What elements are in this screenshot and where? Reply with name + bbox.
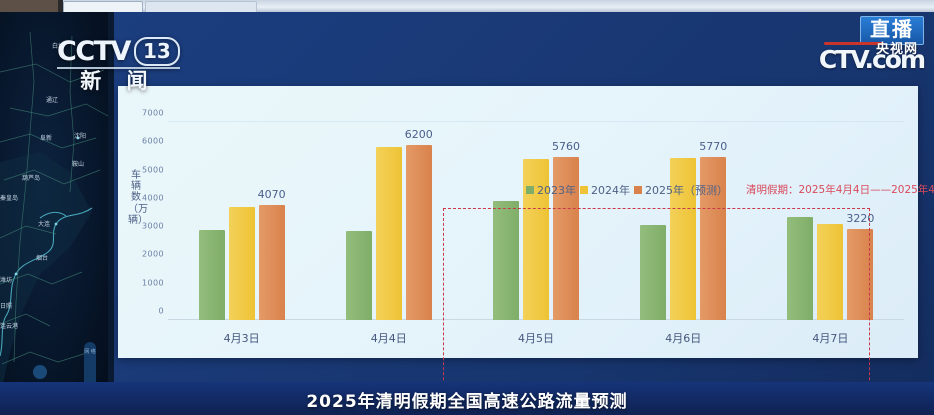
live-watermark-block: 直播 央视网 CTV.com (774, 16, 924, 75)
map-city-label: 潍坊 (0, 276, 12, 284)
map-city-label: 连云港 (0, 322, 18, 330)
bar-4月6日-2023年 (640, 225, 666, 320)
holiday-annotation: 清明假期：2025年4月4日——2025年4月6日 (746, 182, 934, 197)
chart-card: 2023年 2024年 2025年（预测） 清明假期：2025年4月4日——20… (118, 86, 918, 358)
legend-item-2023: 2023年 (526, 182, 576, 198)
bar-value-label: 3220 (846, 212, 874, 225)
bar-4月7日-2024年 (817, 224, 843, 320)
cctv-wordmark: CCTV (57, 38, 130, 65)
bar-4月3日-2025年（预测）: 4070 (259, 205, 285, 320)
map-city-label: 沈阳 (74, 132, 86, 140)
bar-4月3日-2024年 (229, 207, 255, 320)
map-scroll-label: 网 络 (84, 342, 96, 356)
legend-swatch-icon (634, 186, 642, 194)
x-axis-tick-label: 4月4日 (315, 330, 462, 346)
legend-swatch-icon (526, 186, 534, 194)
map-city-label: 阜新 (40, 134, 52, 142)
y-tick-label: 5000 (122, 165, 164, 174)
bar-value-label: 4070 (258, 188, 286, 201)
bar-group: 57704月6日 (610, 122, 757, 320)
map-city-label: 日照 (0, 303, 12, 310)
bar-4月3日-2023年 (199, 230, 225, 321)
website-wordmark: CTV.com (819, 47, 924, 72)
bar-value-label: 5760 (552, 140, 580, 153)
y-tick-label: 1000 (122, 278, 164, 287)
x-axis-tick-label: 4月6日 (610, 330, 757, 346)
legend-item-2025: 2025年（预测） (634, 182, 728, 198)
legend-swatch-icon (580, 186, 588, 194)
y-tick-label: 3000 (122, 222, 164, 231)
map-city-label: 葫芦岛 (22, 174, 40, 182)
y-tick-label: 7000 (122, 109, 164, 118)
plot-area: 7000 6000 5000 4000 3000 2000 1000 0 407… (168, 122, 904, 320)
channel-number-badge: 13 (134, 37, 180, 66)
y-tick-label: 6000 (122, 137, 164, 146)
logo-divider (57, 67, 180, 69)
bar-value-label: 5770 (699, 140, 727, 153)
legend-label: 2024年 (591, 182, 630, 198)
chrome-tab-second[interactable] (145, 1, 257, 12)
chart-legend: 2023年 2024年 2025年（预测） (526, 182, 728, 198)
bar-group: 57604月5日 (462, 122, 609, 320)
y-tick-label: 0 (122, 307, 164, 316)
bar-value-label: 6200 (405, 128, 433, 141)
bar-4月4日-2024年 (376, 147, 402, 320)
website-watermark: 央视网 CTV.com (774, 41, 924, 75)
map-city-label: 大连 (38, 220, 50, 228)
website-logo-text: CTV (819, 45, 865, 74)
x-axis-tick-label: 4月3日 (168, 330, 315, 346)
broadcast-screenshot: 白城 通辽 阜新 沈阳 鞍山 葫芦岛 秦皇岛 大连 烟台 潍坊 日照 连云港 上… (0, 0, 934, 415)
bar-4月5日-2023年 (493, 201, 519, 320)
channel-number: 13 (143, 41, 171, 61)
channel-name: 新 闻 (57, 71, 180, 92)
legend-label: 2025年（预测） (645, 182, 728, 198)
x-axis-tick-label: 4月5日 (462, 330, 609, 346)
chrome-tab-left[interactable] (0, 0, 58, 12)
y-tick-label: 2000 (122, 250, 164, 259)
map-city-label: 秦皇岛 (0, 194, 18, 202)
map-city-label: 烟台 (36, 254, 48, 262)
bar-group: 62004月4日 (315, 122, 462, 320)
window-chrome-strip (0, 0, 934, 12)
bar-4月7日-2025年（预测）: 3220 (847, 229, 873, 320)
channel-logo-bug: CCTV 13 新 闻 (57, 36, 180, 92)
bar-4月4日-2023年 (346, 231, 372, 320)
legend-label: 2023年 (537, 182, 576, 198)
website-suffix-text: .com (864, 45, 924, 74)
x-axis-tick-label: 4月7日 (757, 330, 904, 346)
bar-group: 40704月3日 (168, 122, 315, 320)
live-badge-label: 直播 (870, 17, 914, 41)
y-tick-label: 4000 (122, 193, 164, 202)
bar-groups: 40704月3日62004月4日57604月5日57704月6日32204月7日 (168, 122, 904, 320)
map-city-label: 鞍山 (72, 160, 84, 168)
bar-4月7日-2023年 (787, 217, 813, 320)
bar-4月4日-2025年（预测）: 6200 (406, 145, 432, 320)
lower-third-caption: 2025年清明假期全国高速公路流量预测 (0, 382, 934, 415)
map-city-label: 通辽 (46, 96, 58, 104)
caption-headline: 2025年清明假期全国高速公路流量预测 (0, 387, 934, 412)
bar-group: 32204月7日 (757, 122, 904, 320)
legend-item-2024: 2024年 (580, 182, 630, 198)
chrome-tab-active[interactable] (63, 1, 143, 12)
